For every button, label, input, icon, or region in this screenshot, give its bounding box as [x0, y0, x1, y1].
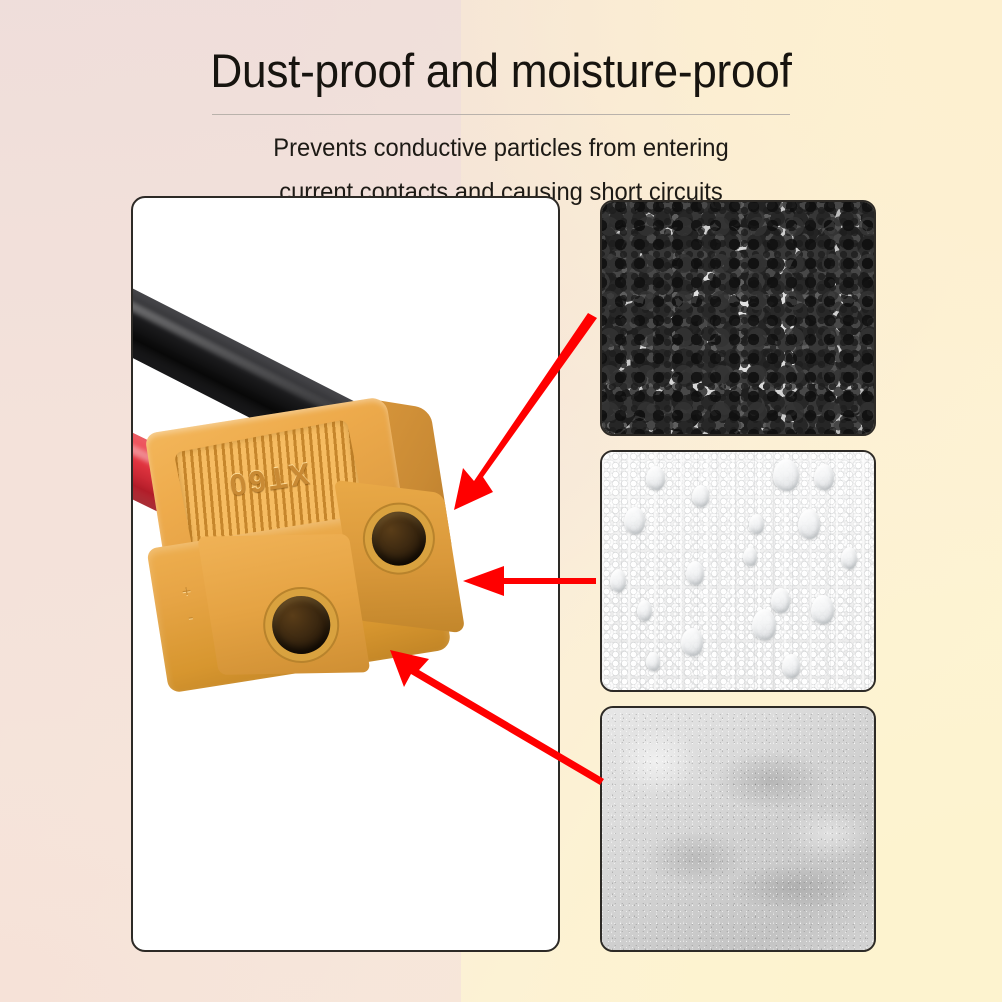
- water-droplet: [624, 507, 645, 534]
- water-droplet: [681, 628, 703, 656]
- xt60-connector: XT60 + -: [131, 381, 486, 700]
- water-texture: [602, 452, 874, 690]
- dust-particles-sample: [600, 200, 876, 436]
- product-feature-poster: Dust-proof and moisture-proof Prevents c…: [0, 0, 1002, 1002]
- water-droplet: [646, 652, 660, 671]
- water-droplet: [798, 509, 820, 539]
- water-droplet: [752, 609, 776, 640]
- water-droplet: [771, 588, 790, 613]
- frost-grain-layer: [602, 708, 874, 950]
- water-droplet: [811, 595, 834, 624]
- header: Dust-proof and moisture-proof Prevents c…: [0, 42, 1002, 214]
- water-droplet: [749, 514, 764, 534]
- water-droplet: [686, 561, 704, 585]
- water-condensation-sample: [600, 450, 876, 692]
- water-droplet: [773, 459, 799, 491]
- frost-texture: [602, 708, 874, 950]
- frost-debris-sample: [600, 706, 876, 952]
- water-droplet: [841, 547, 857, 569]
- subtitle-line-1: Prevents conductive particles from enter…: [25, 126, 977, 170]
- water-droplet: [782, 654, 800, 678]
- dust-specks-layer-2: [602, 202, 874, 434]
- condensation-streak-layer: [602, 452, 874, 690]
- dust-texture: [602, 202, 874, 434]
- header-divider: [212, 114, 790, 115]
- water-droplet: [646, 466, 665, 490]
- product-photo-card: XT60 + -: [131, 196, 560, 952]
- water-droplet: [814, 464, 834, 490]
- water-droplet: [692, 485, 709, 507]
- water-droplet: [610, 569, 626, 592]
- page-title: Dust-proof and moisture-proof: [30, 42, 972, 100]
- water-droplet: [637, 600, 652, 621]
